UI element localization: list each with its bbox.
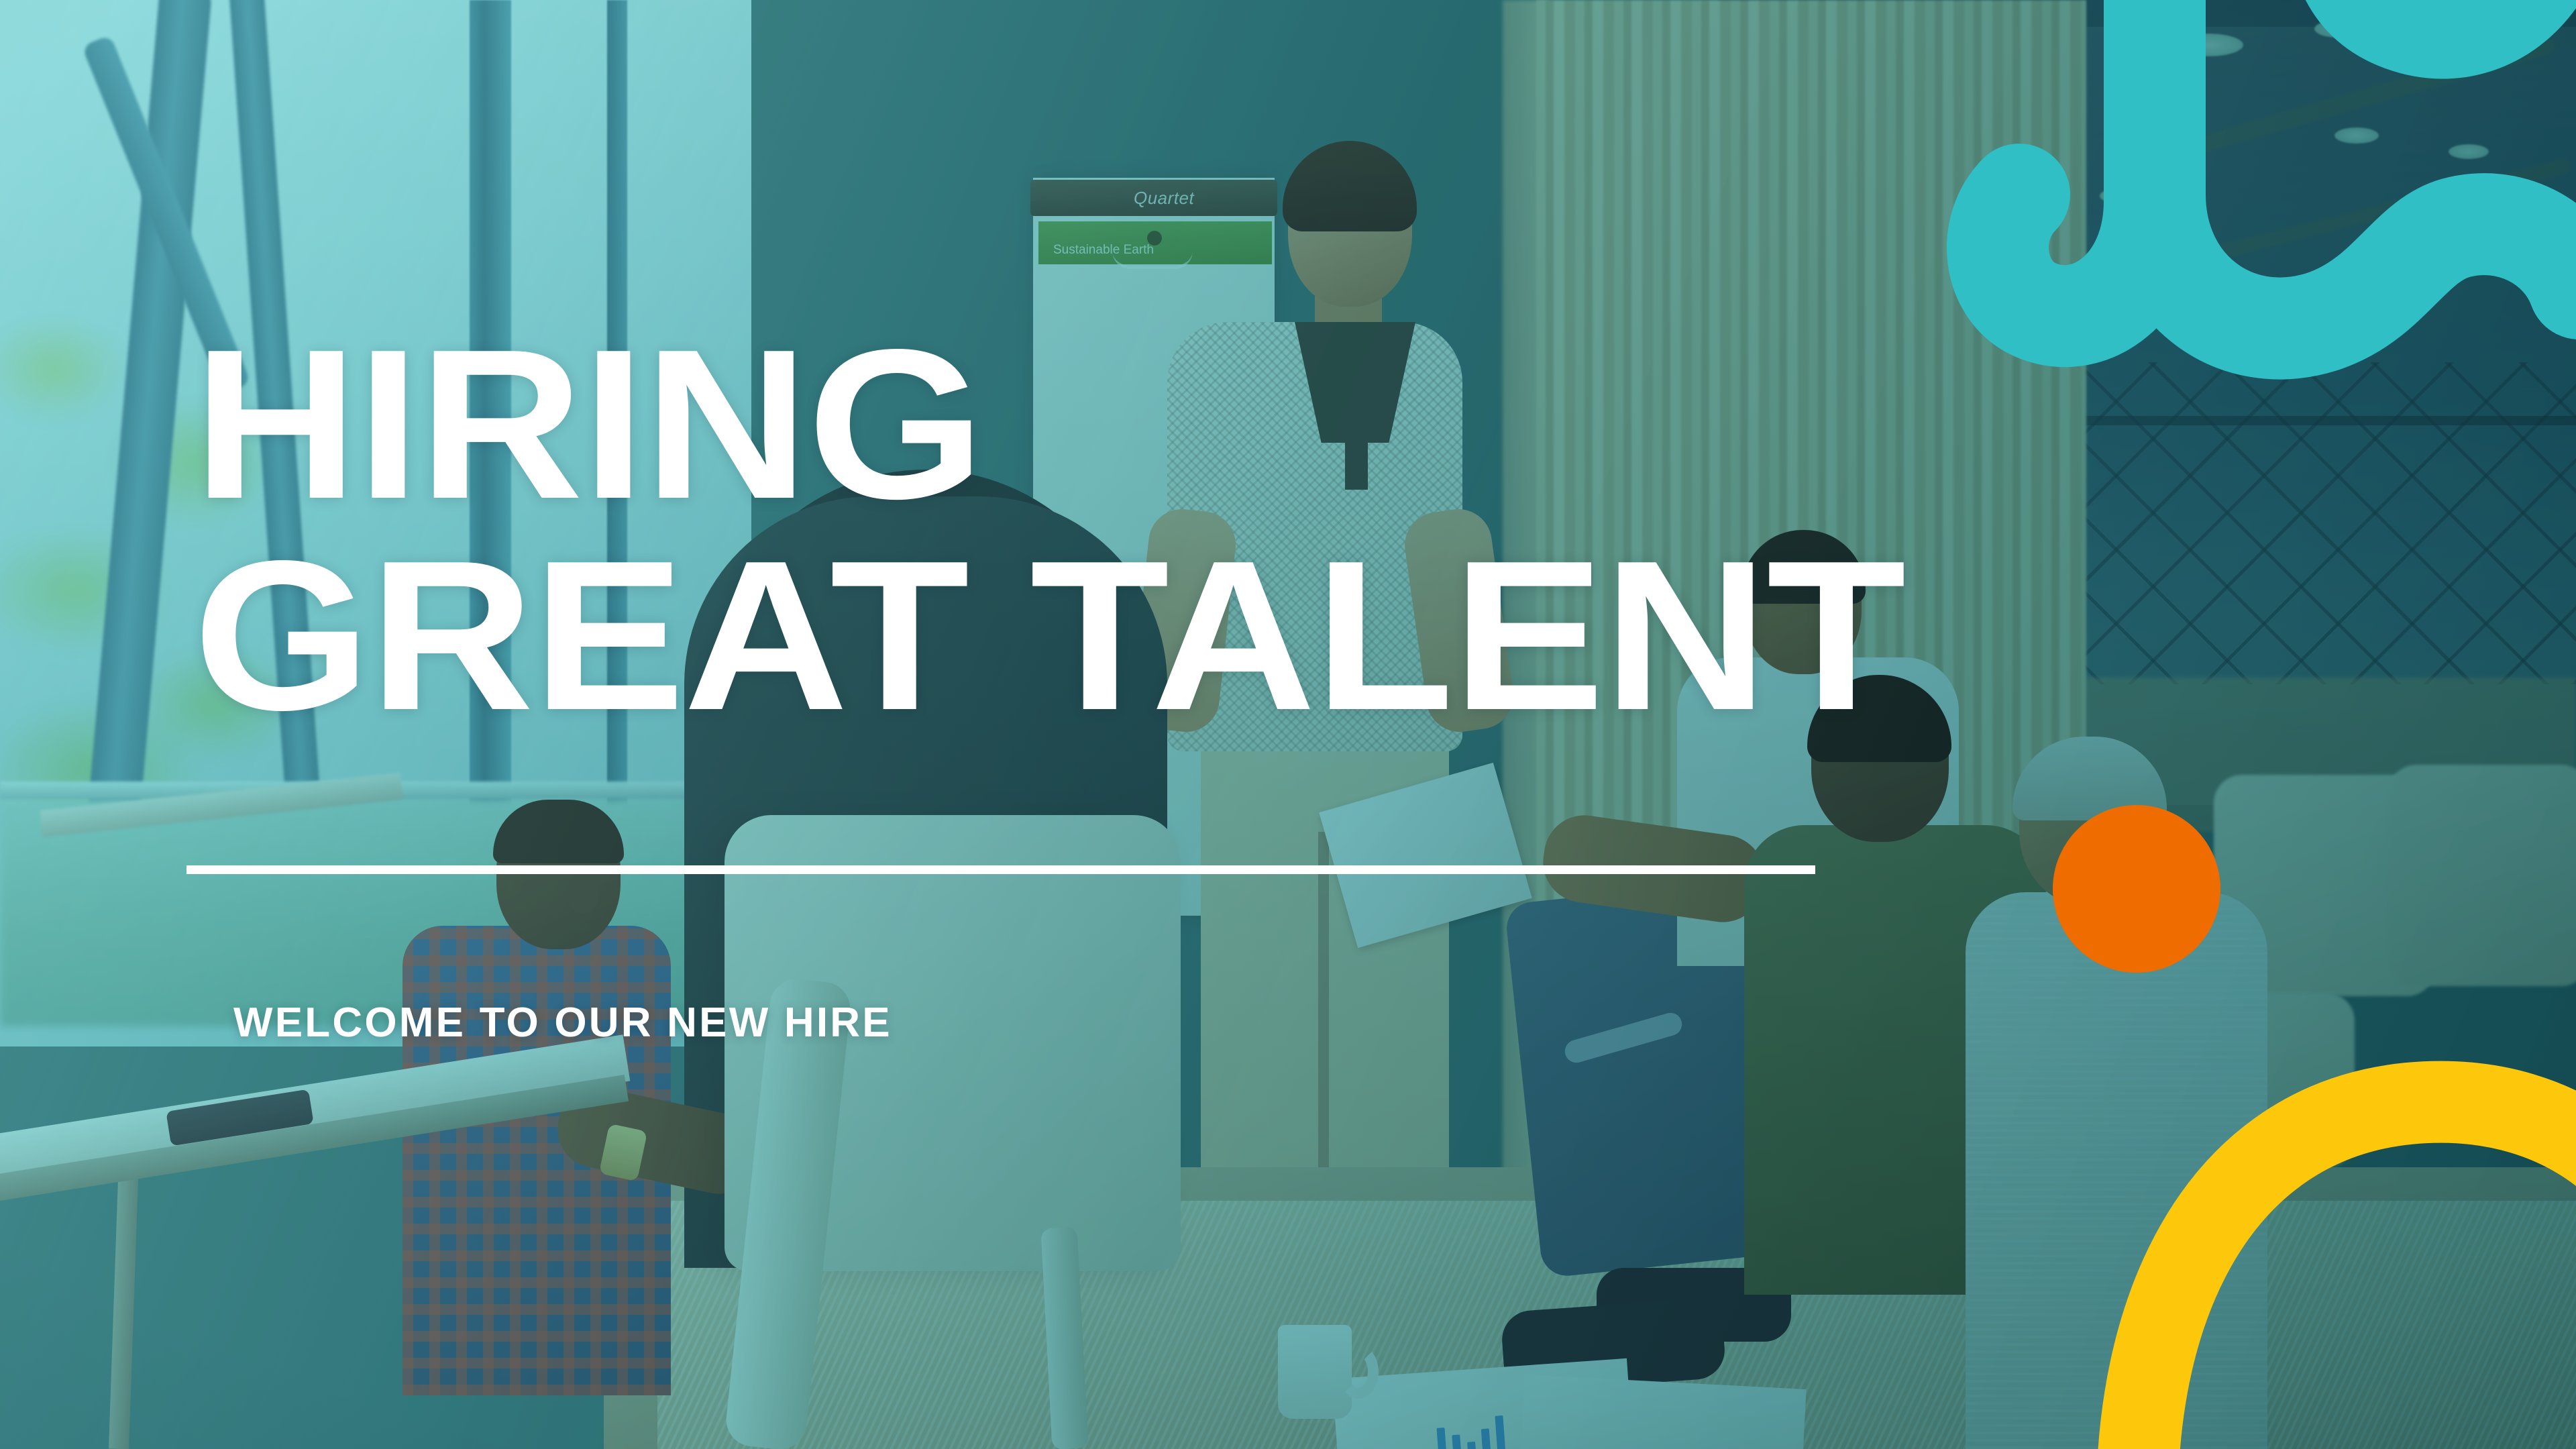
page-title: HIRING GREAT TALENT (193, 319, 1904, 742)
headline-line-2: GREAT TALENT (193, 531, 1904, 742)
hiring-banner: Quartet Sustainable Earth (0, 0, 2576, 1449)
divider (186, 865, 1815, 874)
copy-block: HIRING GREAT TALENT WELCOME TO OUR NEW H… (0, 0, 2576, 1449)
headline-line-1: HIRING (193, 305, 983, 543)
subtitle: WELCOME TO OUR NEW HIRE (233, 999, 892, 1046)
